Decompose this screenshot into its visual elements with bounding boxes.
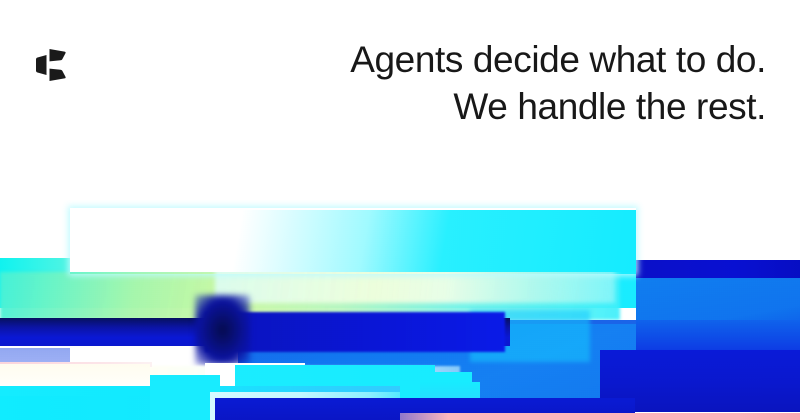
brand-logo[interactable] [33, 43, 75, 87]
art-pink-bottom-bar [400, 413, 800, 420]
art-periwinkle-strip [0, 348, 70, 362]
banner-header: Agents decide what to do. We handle the … [0, 0, 800, 200]
abstract-gradient-graphic [0, 200, 800, 420]
art-sweep-glow [70, 208, 636, 274]
art-right-navy-strip [636, 260, 800, 278]
page-title: Agents decide what to do. We handle the … [206, 36, 766, 130]
art-navy-band-2 [205, 312, 505, 352]
headline-line-1: Agents decide what to do. [206, 36, 766, 83]
headline-line-2: We handle the rest. [206, 83, 766, 130]
art-navy-blob [195, 295, 250, 365]
anthropic-hex-c-logo-icon [33, 43, 75, 87]
promo-banner: Agents decide what to do. We handle the … [0, 0, 800, 420]
